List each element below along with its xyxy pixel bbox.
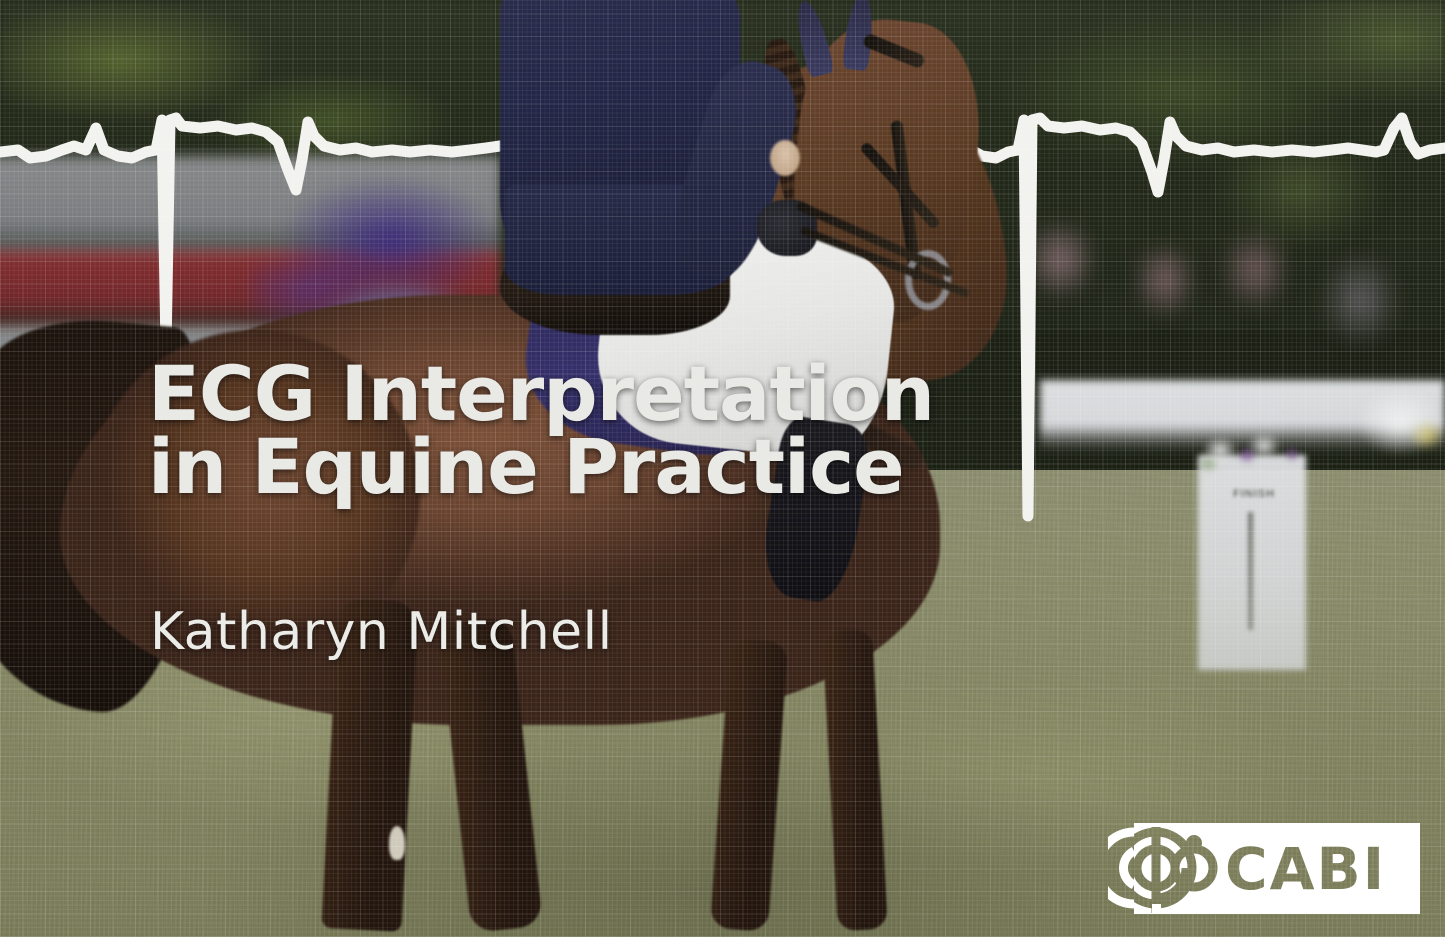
book-cover: FINISH [0, 0, 1445, 937]
author-name: Katharyn Mitchell [150, 602, 613, 662]
page-title: ECG Interpretation in Equine Practice [148, 358, 1048, 504]
horse-leg-white-marking [389, 826, 405, 860]
rider-wrist [770, 140, 800, 176]
horse-leg-fore-right [822, 629, 888, 931]
cabi-circular-monogram-icon: CABI [1108, 821, 1420, 916]
publisher-logo: CABI [1108, 821, 1420, 916]
